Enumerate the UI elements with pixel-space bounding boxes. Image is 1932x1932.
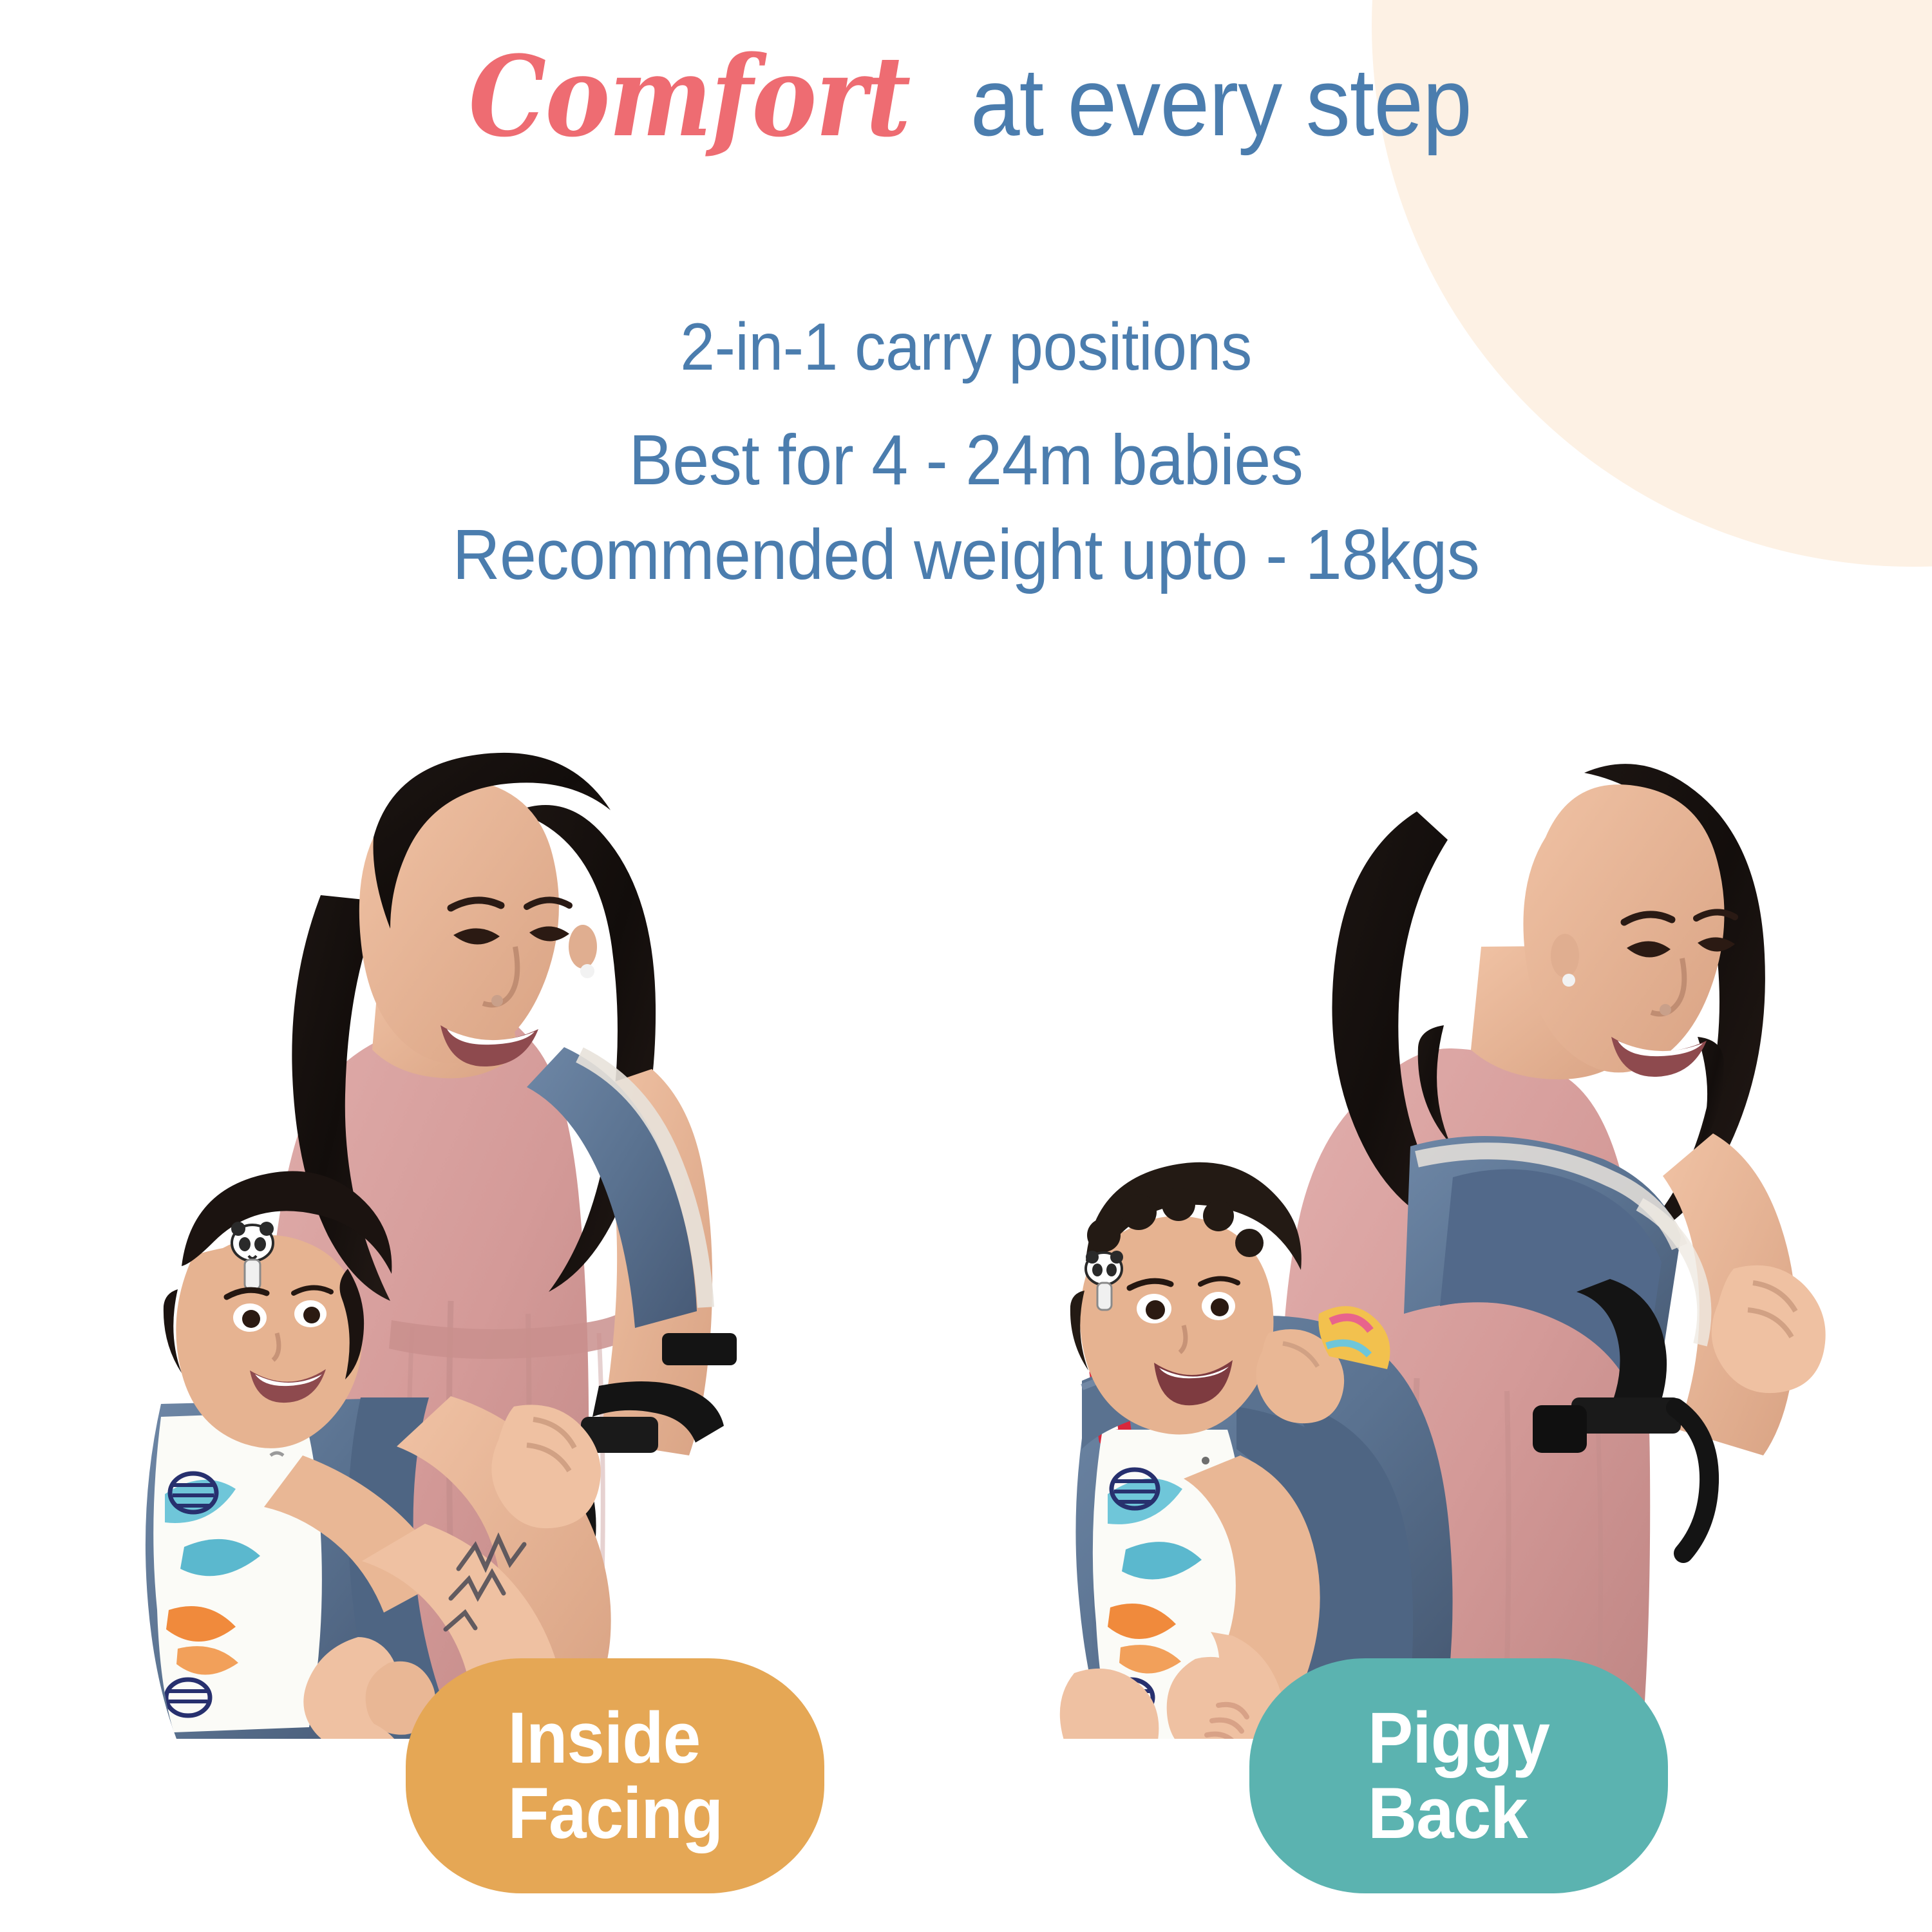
pill-piggy-back-text: Piggy Back bbox=[1368, 1701, 1549, 1851]
subtitle-line-1: 2-in-1 carry positions bbox=[68, 309, 1864, 386]
pill-inside-facing-line2: Facing bbox=[507, 1776, 723, 1851]
label-pill-inside-facing[interactable]: Inside Facing bbox=[406, 1658, 824, 1893]
page-title: Comfortat every step bbox=[0, 39, 1932, 155]
photo-piggy-back: Luv bbox=[966, 734, 1932, 1739]
pill-inside-facing-text: Inside Facing bbox=[507, 1701, 723, 1851]
label-pill-piggy-back[interactable]: Piggy Back bbox=[1249, 1658, 1668, 1893]
pill-inside-facing-line1: Inside bbox=[507, 1698, 700, 1778]
headline-script-word: Comfort bbox=[469, 39, 910, 155]
photo-row: Luv bbox=[0, 734, 1932, 1739]
pill-piggy-back-line1: Piggy bbox=[1368, 1698, 1549, 1778]
headline-plain-words: at every step bbox=[971, 52, 1472, 153]
subtitle-line-2: Best for 4 - 24m babies bbox=[68, 419, 1864, 501]
promo-canvas: Comfortat every step 2-in-1 carry positi… bbox=[0, 0, 1932, 1932]
pill-piggy-back-line2: Back bbox=[1368, 1776, 1549, 1851]
subtitle-line-3: Recommended weight upto - 18kgs bbox=[68, 514, 1864, 596]
subtitle-block: 2-in-1 carry positions Best for 4 - 24m … bbox=[0, 309, 1932, 596]
photo-inside-facing bbox=[0, 734, 966, 1739]
